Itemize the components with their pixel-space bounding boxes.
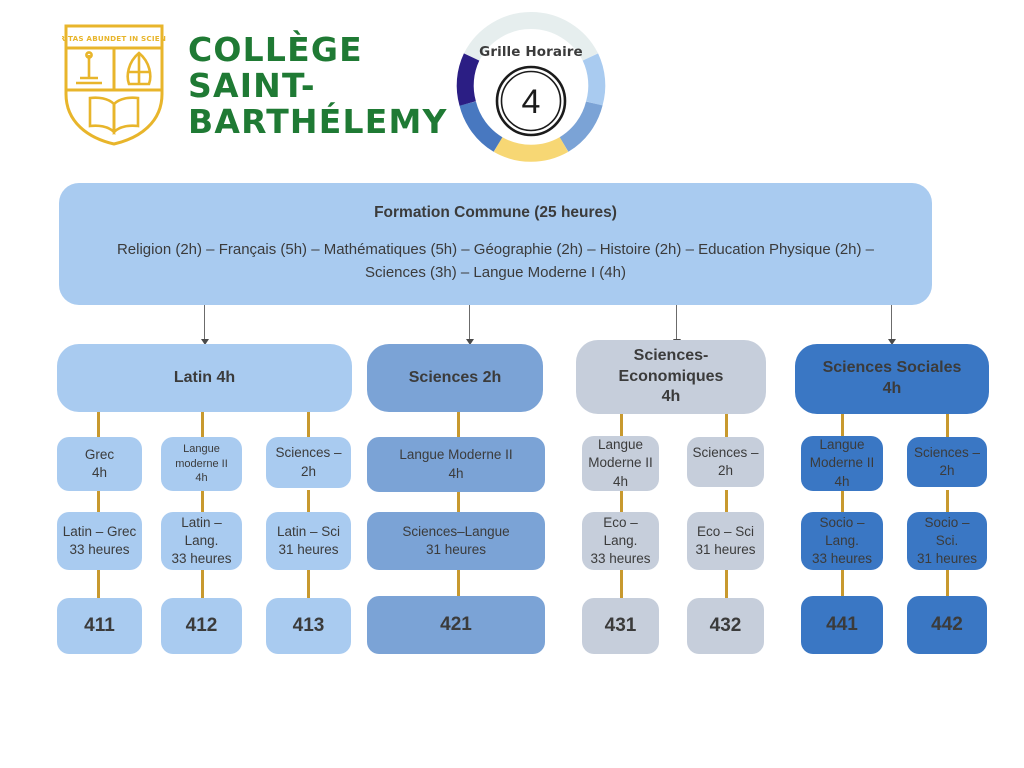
arrow-to-track-sciences bbox=[469, 305, 470, 340]
option-box-431[interactable]: Langue Moderne II 4h bbox=[582, 436, 659, 491]
track-sciences[interactable]: Sciences 2h bbox=[367, 344, 543, 412]
result-box-442[interactable]: Socio – Sci. 31 heures bbox=[907, 512, 987, 570]
page-header: CARITAS ABUNDET IN SCIENTIA COLLÈGE SAIN… bbox=[0, 0, 1024, 175]
result-box-421[interactable]: Sciences–Langue 31 heures bbox=[367, 512, 545, 570]
code-box-432[interactable]: 432 bbox=[687, 598, 764, 654]
shield-mitre-icon bbox=[128, 53, 151, 84]
link-track-option-421 bbox=[457, 412, 460, 439]
school-name: COLLÈGE SAINT- BARTHÉLEMY bbox=[188, 32, 448, 141]
code-box-413[interactable]: 413 bbox=[266, 598, 351, 654]
school-logo-block: CARITAS ABUNDET IN SCIENTIA COLLÈGE SAIN… bbox=[62, 22, 448, 148]
link-option-result-441 bbox=[841, 490, 844, 513]
code-box-431[interactable]: 431 bbox=[582, 598, 659, 654]
common-curriculum-box: Formation Commune (25 heures) Religion (… bbox=[59, 183, 932, 305]
code-box-441[interactable]: 441 bbox=[801, 596, 883, 654]
link-result-code-411 bbox=[97, 570, 100, 598]
badge-grade-number: 4 bbox=[452, 85, 610, 119]
link-track-option-411 bbox=[97, 412, 100, 439]
code-box-421[interactable]: 421 bbox=[367, 596, 545, 654]
badge-title: Grille Horaire bbox=[452, 44, 610, 60]
code-box-412[interactable]: 412 bbox=[161, 598, 242, 654]
option-box-411[interactable]: Grec 4h bbox=[57, 437, 142, 491]
shield-staff-icon bbox=[76, 52, 102, 83]
link-option-result-411 bbox=[97, 490, 100, 513]
school-shield-icon: CARITAS ABUNDET IN SCIENTIA bbox=[62, 22, 166, 148]
result-box-411[interactable]: Latin – Grec 33 heures bbox=[57, 512, 142, 570]
link-result-code-432 bbox=[725, 570, 728, 598]
arrow-to-track-latin bbox=[204, 305, 205, 340]
code-box-411[interactable]: 411 bbox=[57, 598, 142, 654]
link-option-result-431 bbox=[620, 490, 623, 513]
link-option-result-442 bbox=[946, 490, 949, 513]
code-box-442[interactable]: 442 bbox=[907, 596, 987, 654]
arrow-to-track-sciences-sociales bbox=[891, 305, 892, 340]
result-box-431[interactable]: Eco – Lang. 33 heures bbox=[582, 512, 659, 570]
link-option-result-412 bbox=[201, 490, 204, 513]
link-result-code-412 bbox=[201, 570, 204, 598]
link-option-result-413 bbox=[307, 490, 310, 513]
link-option-result-432 bbox=[725, 490, 728, 513]
arrow-to-track-sciences-eco bbox=[676, 305, 677, 340]
option-box-432[interactable]: Sciences – 2h bbox=[687, 437, 764, 487]
option-box-441[interactable]: Langue Moderne II 4h bbox=[801, 436, 883, 491]
link-track-option-413 bbox=[307, 412, 310, 439]
shield-motto: CARITAS ABUNDET IN SCIENTIA bbox=[62, 34, 166, 43]
result-box-412[interactable]: Latin – Lang. 33 heures bbox=[161, 512, 242, 570]
shield-book-icon bbox=[90, 98, 138, 132]
link-track-option-412 bbox=[201, 412, 204, 439]
track-sciences-sociales[interactable]: Sciences Sociales 4h bbox=[795, 344, 989, 414]
option-box-442[interactable]: Sciences – 2h bbox=[907, 437, 987, 487]
result-box-413[interactable]: Latin – Sci 31 heures bbox=[266, 512, 351, 570]
link-result-code-441 bbox=[841, 570, 844, 598]
common-curriculum-title: Formation Commune (25 heures) bbox=[87, 204, 904, 222]
link-result-code-431 bbox=[620, 570, 623, 598]
result-box-441[interactable]: Socio – Lang. 33 heures bbox=[801, 512, 883, 570]
common-curriculum-subjects: Religion (2h) – Français (5h) – Mathémat… bbox=[87, 239, 904, 284]
link-result-code-413 bbox=[307, 570, 310, 598]
option-box-413[interactable]: Sciences – 2h bbox=[266, 437, 351, 488]
track-latin[interactable]: Latin 4h bbox=[57, 344, 352, 412]
link-result-code-442 bbox=[946, 570, 949, 598]
track-sciences-economiques[interactable]: Sciences- Economiques 4h bbox=[576, 340, 766, 414]
link-track-option-442 bbox=[946, 414, 949, 439]
link-result-code-421 bbox=[457, 570, 460, 598]
link-option-result-421 bbox=[457, 490, 460, 513]
option-box-421[interactable]: Langue Moderne II 4h bbox=[367, 437, 545, 492]
link-track-option-432 bbox=[725, 414, 728, 439]
result-box-432[interactable]: Eco – Sci 31 heures bbox=[687, 512, 764, 570]
option-box-412[interactable]: Langue moderne II 4h bbox=[161, 437, 242, 491]
grade-badge: Grille Horaire 4 bbox=[452, 8, 610, 166]
